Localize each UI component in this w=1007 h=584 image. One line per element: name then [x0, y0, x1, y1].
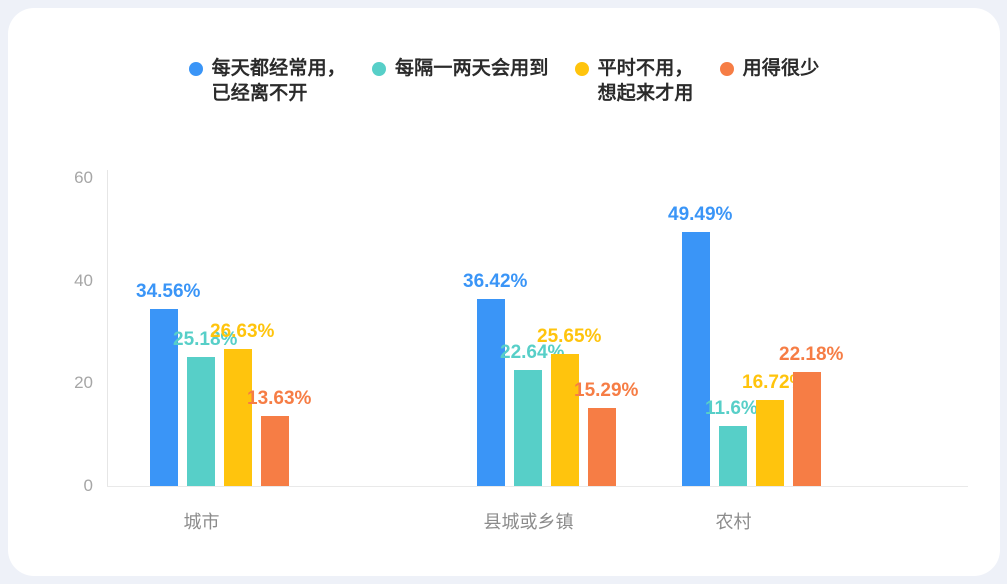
bar-value-label: 11.6% [705, 398, 758, 420]
bar[interactable] [477, 299, 505, 486]
x-axis-line [107, 486, 968, 487]
bar-value-label: 15.29% [574, 380, 638, 402]
bar[interactable] [224, 349, 252, 486]
bar[interactable] [551, 354, 579, 486]
x-axis-category-label: 县城或乡镇 [484, 508, 574, 534]
y-axis-line [107, 170, 108, 486]
bar-value-label: 22.18% [779, 344, 843, 366]
y-axis-tick-label: 40 [49, 271, 93, 291]
bar-value-label: 25.65% [537, 326, 601, 348]
y-axis-tick-label: 0 [49, 476, 93, 496]
bar-value-label: 36.42% [463, 271, 527, 293]
x-axis-category-label: 农村 [716, 508, 752, 534]
bar[interactable] [187, 357, 215, 486]
bar-value-label: 26.63% [210, 321, 274, 343]
bar[interactable] [514, 370, 542, 486]
chart-plot-area: 020406034.56%25.18%26.63%13.63%城市36.42%2… [8, 8, 1000, 576]
bar-value-label: 13.63% [247, 388, 311, 410]
chart-card: 每天都经常用， 已经离不开每隔一两天会用到平时不用， 想起来才用用得很少 020… [8, 8, 1000, 576]
bar[interactable] [588, 408, 616, 486]
y-axis-tick-label: 60 [49, 168, 93, 188]
bar[interactable] [756, 400, 784, 486]
bar-value-label: 34.56% [136, 281, 200, 303]
bar[interactable] [719, 426, 747, 486]
x-axis-category-label: 城市 [184, 508, 220, 534]
y-axis-tick-label: 20 [49, 373, 93, 393]
bar[interactable] [793, 372, 821, 486]
bar[interactable] [682, 232, 710, 486]
bar-value-label: 49.49% [668, 204, 732, 226]
bar[interactable] [261, 416, 289, 486]
